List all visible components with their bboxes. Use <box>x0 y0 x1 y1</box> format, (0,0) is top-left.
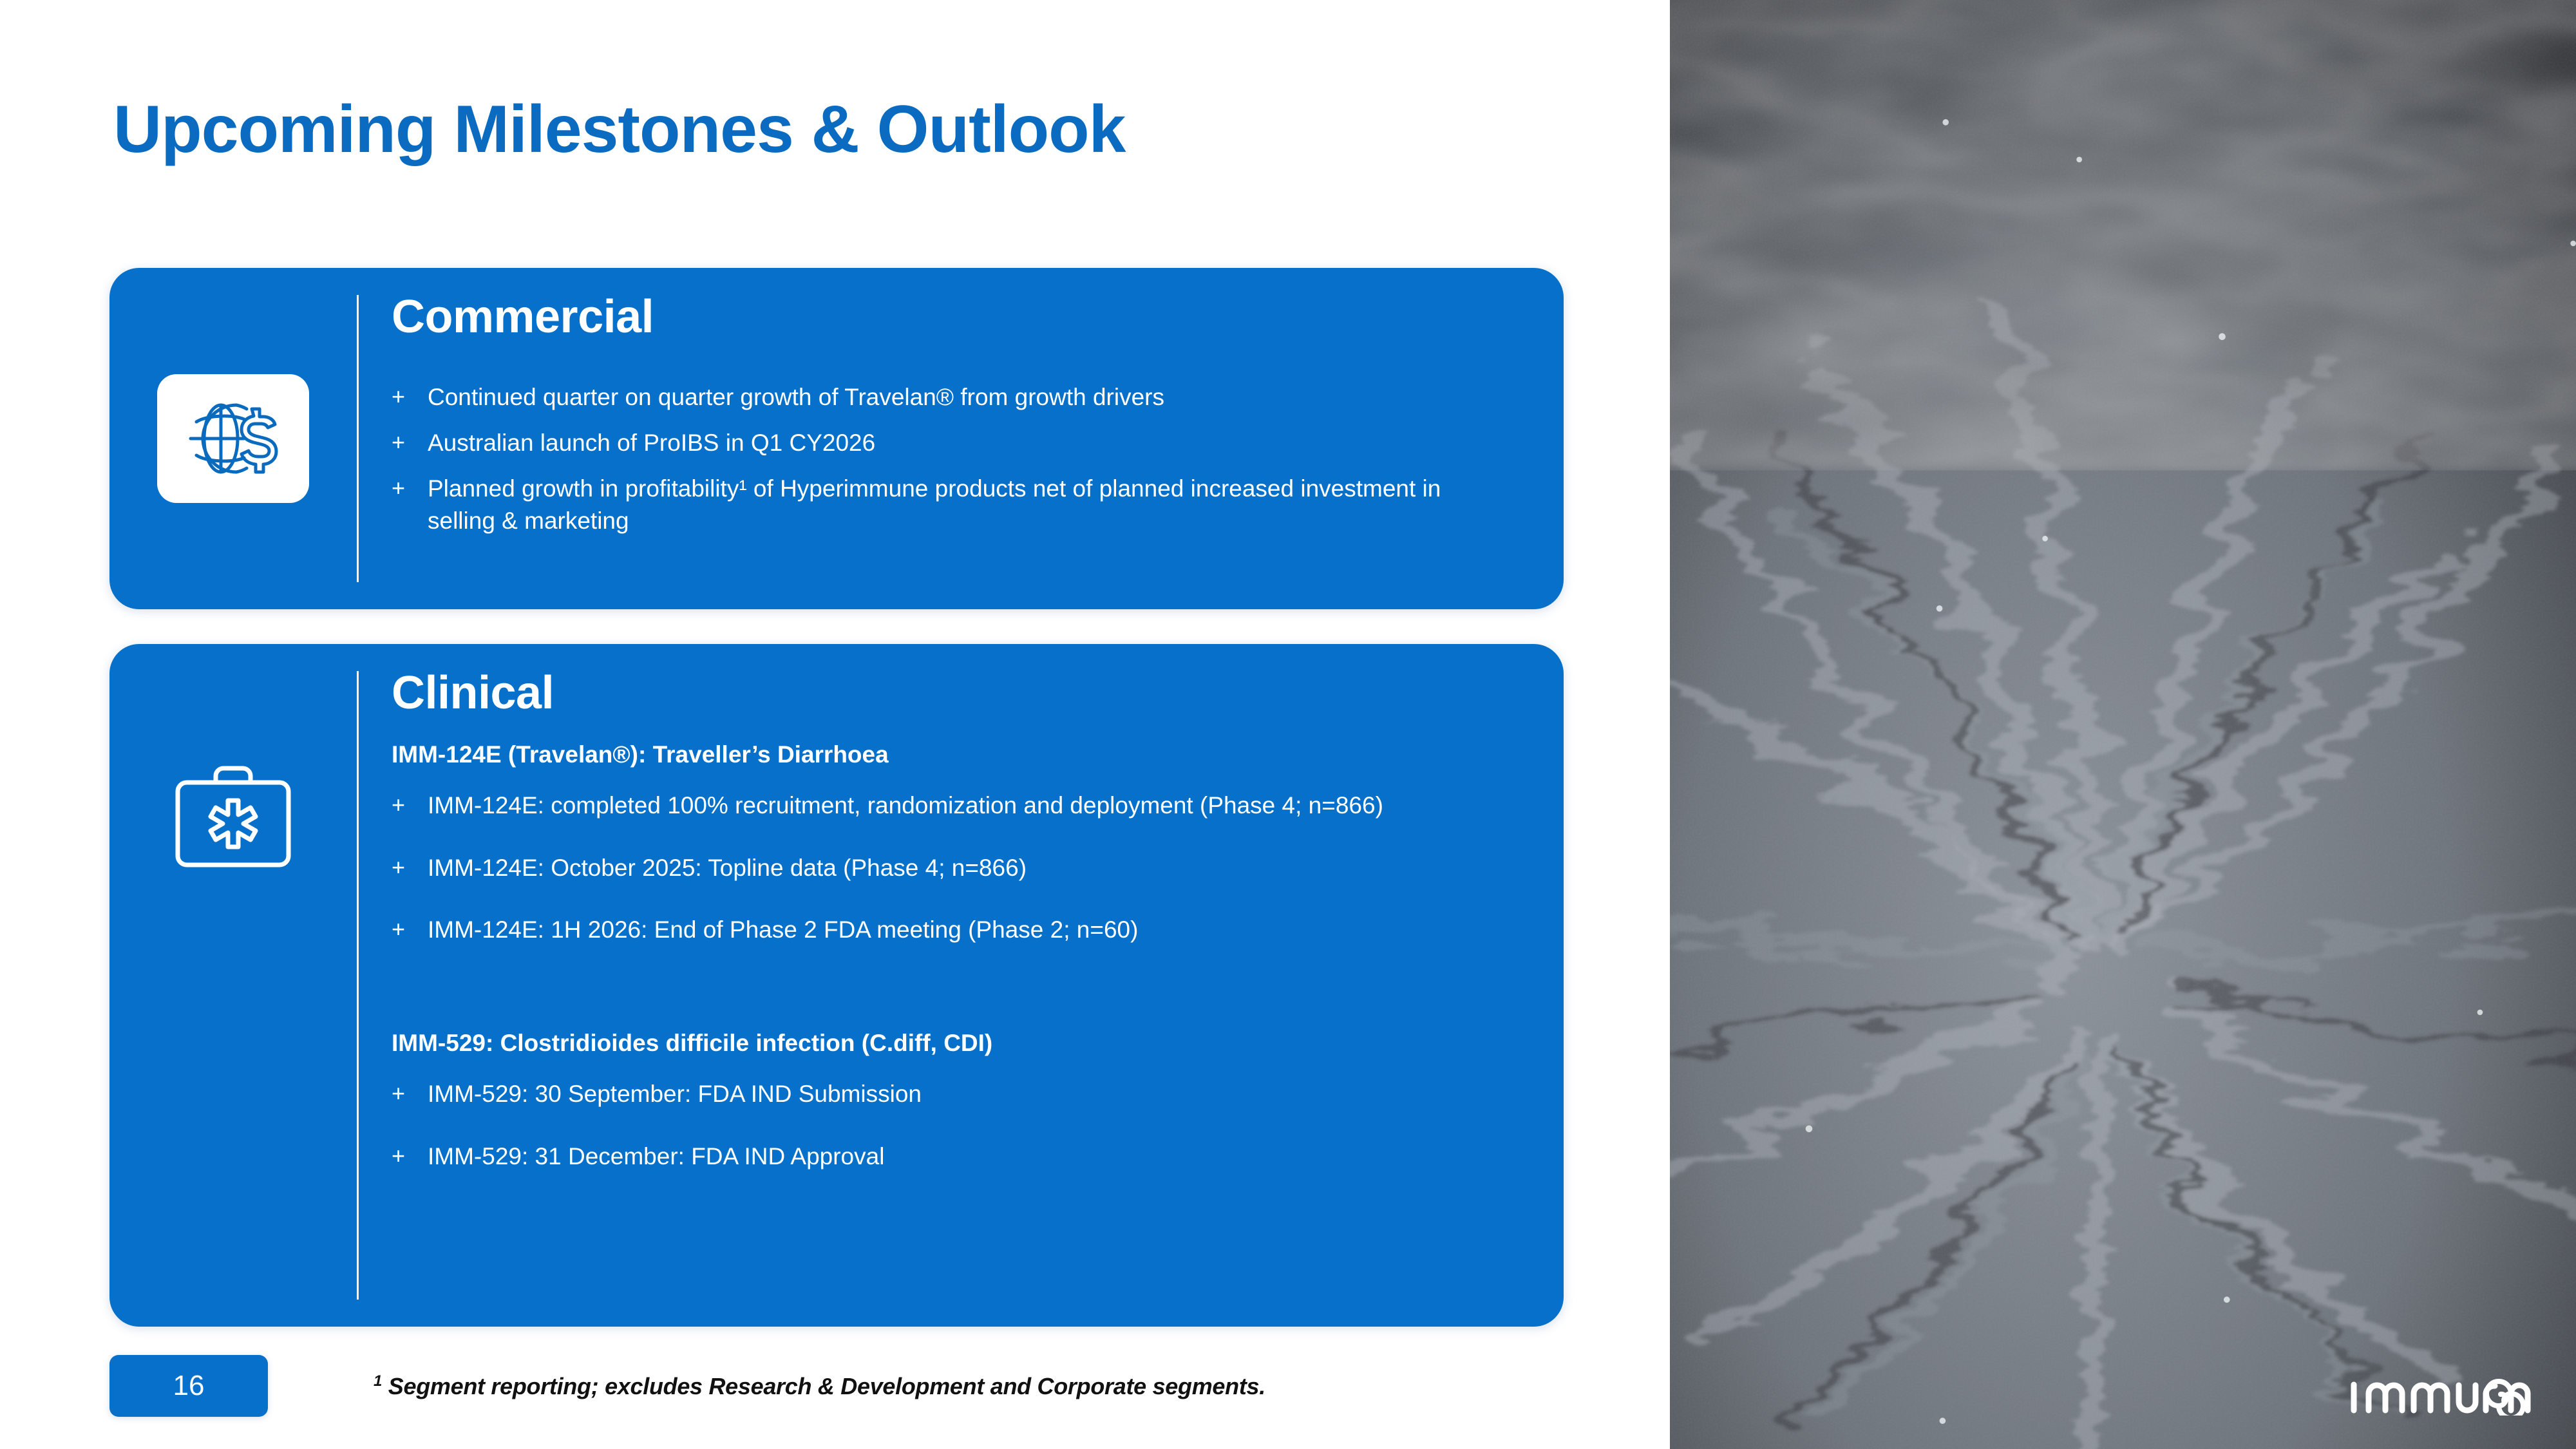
footnote: 1 Segment reporting; excludes Research &… <box>374 1372 1265 1400</box>
page-number-label: 16 <box>173 1370 205 1402</box>
icon-tile-commercial <box>157 374 309 503</box>
hero-image-panel: immuron <box>1670 0 2576 1449</box>
bullet-text: Planned growth in profitability¹ of Hype… <box>428 473 1471 536</box>
list-item: + Continued quarter on quarter growth of… <box>392 381 1525 413</box>
list-item: + Australian launch of ProIBS in Q1 CY20… <box>392 427 1525 459</box>
bullet-text: IMM-529: 31 December: FDA IND Approval <box>428 1135 1471 1179</box>
card-divider-commercial <box>357 295 359 582</box>
list-item: + Planned growth in profitability¹ of Hy… <box>392 473 1525 536</box>
slide-canvas: Upcoming Milestones & Outlook <box>0 0 2576 1449</box>
bullet-text: Continued quarter on quarter growth of T… <box>428 381 1471 413</box>
card-clinical: Clinical IMM-124E (Travelan®): Traveller… <box>109 644 1564 1327</box>
card-heading-clinical: Clinical <box>392 670 554 716</box>
brand-logo: immuron <box>2349 1368 2536 1416</box>
microscopy-texture-image <box>1670 0 2576 1449</box>
clinical-body: Clinical IMM-124E (Travelan®): Traveller… <box>392 644 1525 1327</box>
bullet-marker-icon: + <box>392 847 428 889</box>
commercial-icon-container <box>109 268 357 609</box>
footnote-marker: 1 <box>374 1372 382 1390</box>
commercial-bullet-list: + Continued quarter on quarter growth of… <box>392 381 1525 551</box>
commercial-body: Commercial + Continued quarter on quarte… <box>392 268 1525 609</box>
bullet-marker-icon: + <box>392 1073 428 1115</box>
dollar-sign-glyph <box>241 409 276 472</box>
globe-dollar-icon <box>185 393 281 484</box>
bullet-marker-icon: + <box>392 1135 428 1177</box>
bullet-marker-icon: + <box>392 473 428 504</box>
list-item: + IMM-529: 31 December: FDA IND Approval <box>392 1135 1525 1179</box>
bullet-text: IMM-529: 30 September: FDA IND Submissio… <box>428 1073 1471 1116</box>
bullet-text: IMM-124E: October 2025: Topline data (Ph… <box>428 847 1471 890</box>
list-item: + IMM-124E: completed 100% recruitment, … <box>392 784 1525 828</box>
list-item: + IMM-124E: October 2025: Topline data (… <box>392 847 1525 890</box>
clinical-icon-container <box>109 644 357 992</box>
page-title: Upcoming Milestones & Outlook <box>113 91 1126 169</box>
bullet-text: IMM-124E: 1H 2026: End of Phase 2 FDA me… <box>428 909 1471 952</box>
clinical-subheading-imm124e: IMM-124E (Travelan®): Traveller’s Diarrh… <box>392 739 1525 770</box>
footnote-text: Segment reporting; excludes Research & D… <box>382 1373 1265 1399</box>
medical-bag-icon <box>169 763 298 873</box>
list-item: + IMM-529: 30 September: FDA IND Submiss… <box>392 1073 1525 1116</box>
star-of-life-icon <box>211 800 256 847</box>
bullet-marker-icon: + <box>392 909 428 951</box>
card-divider-clinical <box>357 671 359 1300</box>
card-commercial: Commercial + Continued quarter on quarte… <box>109 268 1564 609</box>
bullet-marker-icon: + <box>392 381 428 412</box>
immuron-logo-icon <box>2349 1368 2536 1416</box>
clinical-subheading-imm529: IMM-529: Clostridioides difficile infect… <box>392 1028 1525 1059</box>
bullet-marker-icon: + <box>392 427 428 458</box>
list-item: + IMM-124E: 1H 2026: End of Phase 2 FDA … <box>392 909 1525 952</box>
bullet-text: IMM-124E: completed 100% recruitment, ra… <box>428 784 1471 828</box>
clinical-bullet-list: IMM-124E (Travelan®): Traveller’s Diarrh… <box>392 739 1525 1197</box>
section-spacer <box>392 971 1525 994</box>
page-number-badge: 16 <box>109 1355 268 1417</box>
card-heading-commercial: Commercial <box>392 294 654 340</box>
bullet-marker-icon: + <box>392 784 428 826</box>
bullet-text: Australian launch of ProIBS in Q1 CY2026 <box>428 427 1471 459</box>
bag-body <box>178 782 289 865</box>
